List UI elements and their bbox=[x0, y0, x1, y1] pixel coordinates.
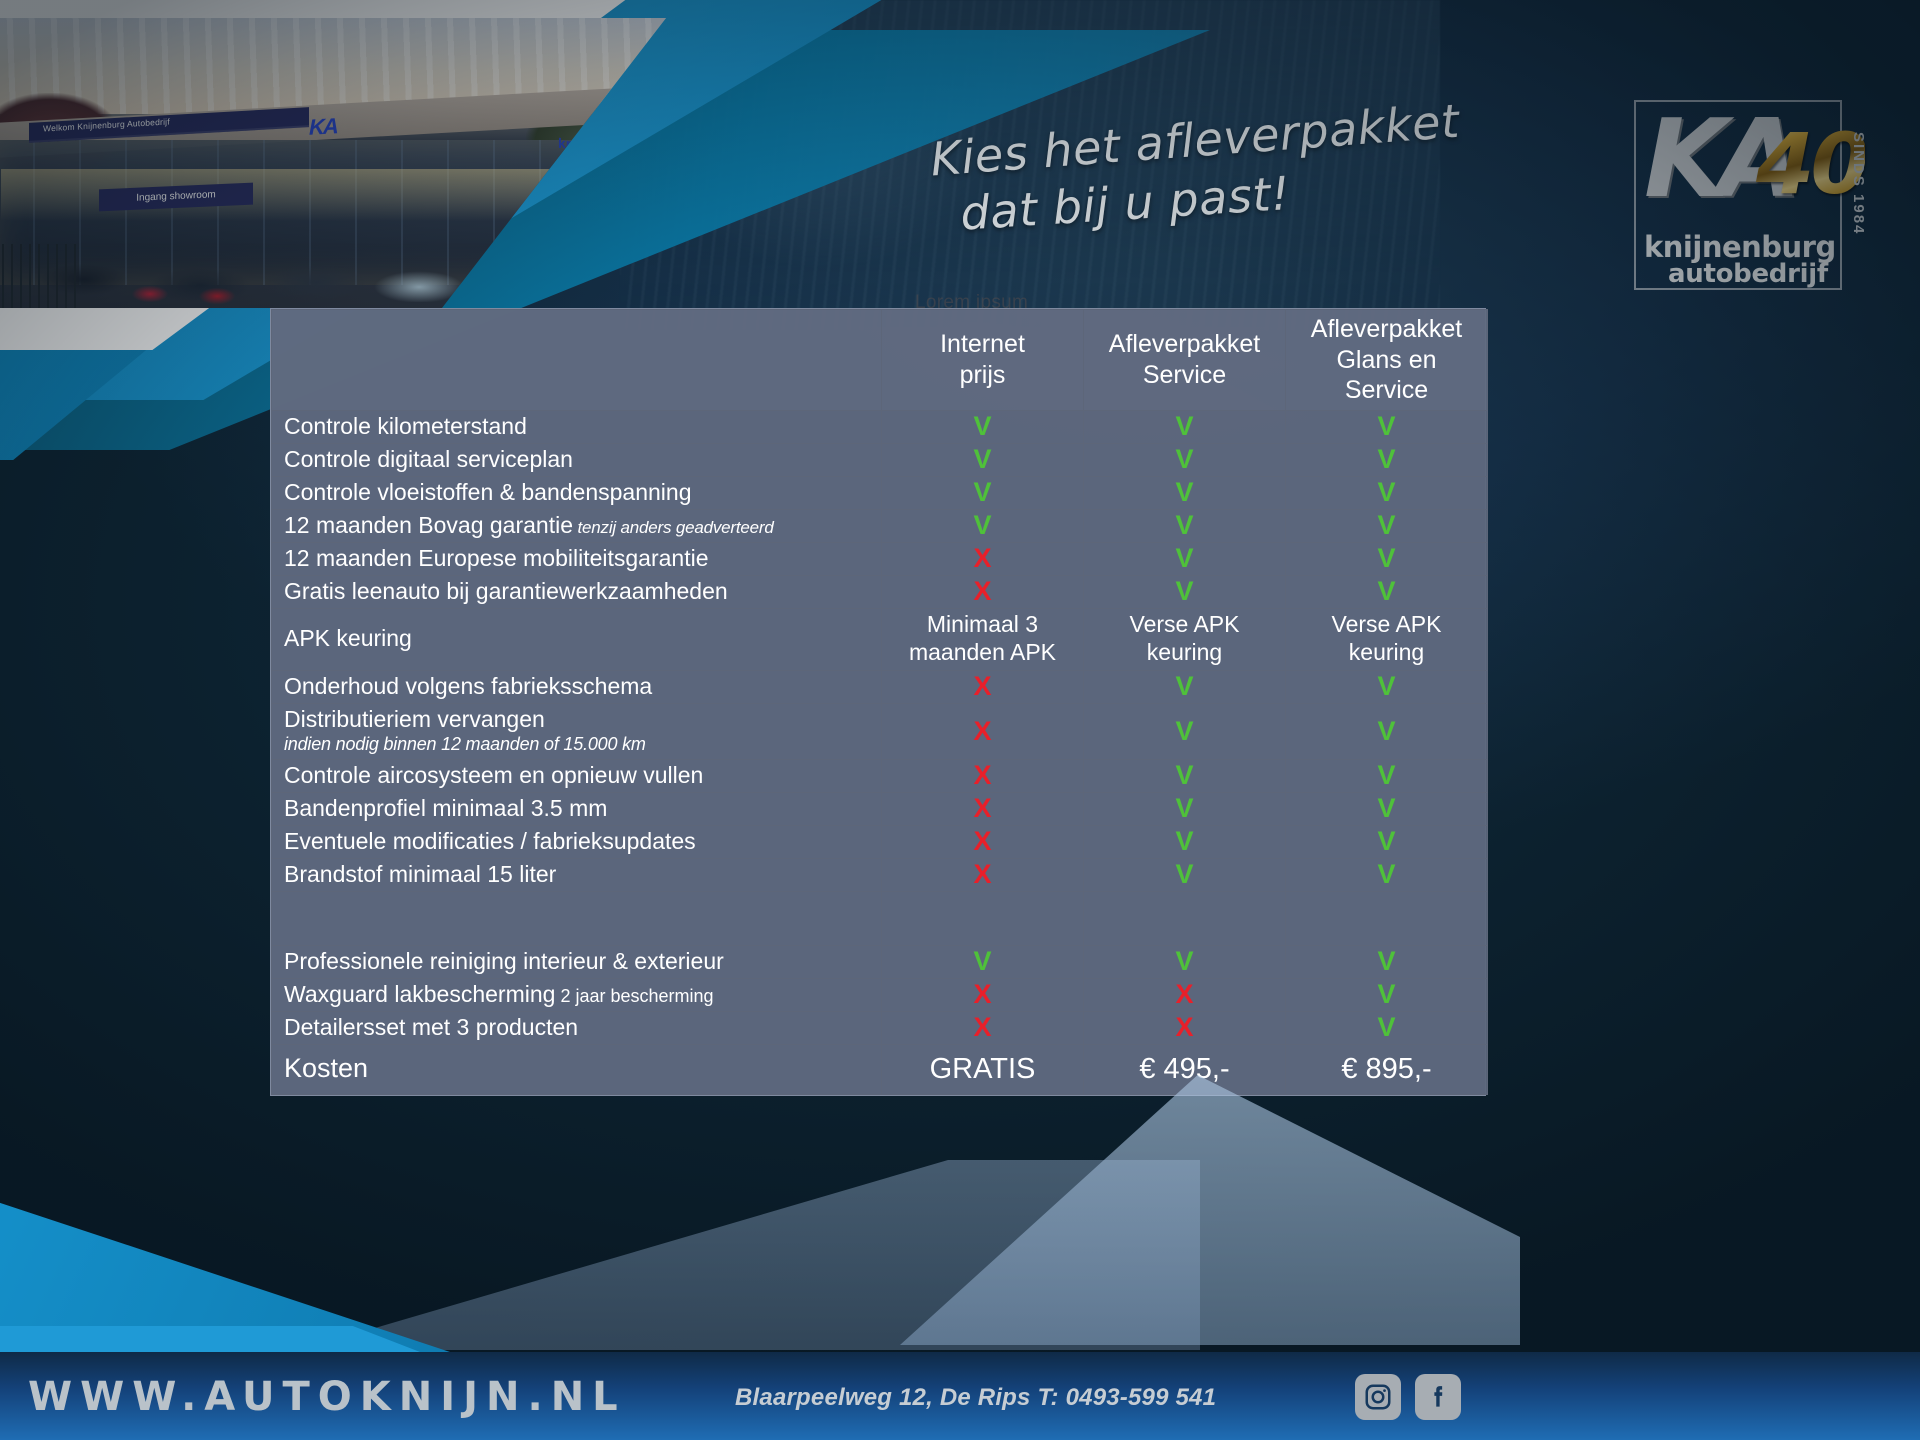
check-icon: V bbox=[1286, 1011, 1488, 1044]
check-icon: V bbox=[1286, 825, 1488, 858]
check-icon: V bbox=[1286, 858, 1488, 891]
check-icon: V bbox=[1084, 825, 1286, 858]
table-row: KostenGRATIS€ 495,-€ 895,- bbox=[272, 1044, 1488, 1094]
feature-label: Professionele reiniging interieur & exte… bbox=[284, 948, 724, 974]
table-row: Brandstof minimaal 15 literXVV bbox=[272, 858, 1488, 891]
cross-icon: X bbox=[882, 575, 1084, 608]
feature-subnote: indien nodig binnen 12 maanden of 15.000… bbox=[284, 734, 881, 755]
check-icon: V bbox=[1084, 443, 1286, 476]
check-icon: V bbox=[1286, 410, 1488, 443]
cross-icon: X bbox=[882, 792, 1084, 825]
check-icon: V bbox=[1286, 978, 1488, 1011]
cross-icon: X bbox=[882, 858, 1084, 891]
check-icon: V bbox=[1084, 476, 1286, 509]
feature-label: 12 maanden Europese mobiliteitsgarantie bbox=[284, 545, 709, 571]
col3-line2: Glans en Service bbox=[1292, 345, 1481, 406]
check-icon: V bbox=[882, 945, 1084, 978]
cross-icon: X bbox=[882, 825, 1084, 858]
check-icon: V bbox=[1084, 509, 1286, 542]
feature-label: Controle vloeistoffen & bandenspanning bbox=[284, 479, 692, 505]
feature-cell: Bandenprofiel minimaal 3.5 mm bbox=[272, 792, 882, 825]
value-cell bbox=[1084, 891, 1286, 945]
table-row: Waxguard lakbescherming 2 jaar beschermi… bbox=[272, 978, 1488, 1011]
table-row: Controle vloeistoffen & bandenspanningVV… bbox=[272, 476, 1488, 509]
check-icon: V bbox=[1084, 703, 1286, 759]
feature-cell: Kosten bbox=[272, 1044, 882, 1094]
col2-line2: Service bbox=[1090, 360, 1279, 391]
table-row: Bandenprofiel minimaal 3.5 mmXVV bbox=[272, 792, 1488, 825]
footer-accent-tab bbox=[0, 1326, 420, 1352]
table-header-row: Internet prijs Afleverpakket Service Afl… bbox=[272, 310, 1488, 411]
column-header-afleverpakket-service: Afleverpakket Service bbox=[1084, 310, 1286, 411]
table-row bbox=[272, 891, 1488, 945]
check-icon: V bbox=[1286, 443, 1488, 476]
table-row: Onderhoud volgens fabrieksschemaXVV bbox=[272, 670, 1488, 703]
feature-label: 12 maanden Bovag garantie bbox=[284, 512, 573, 538]
feature-cell: Waxguard lakbescherming 2 jaar beschermi… bbox=[272, 978, 882, 1011]
table-row: APK keuringMinimaal 3 maanden APKVerse A… bbox=[272, 608, 1488, 670]
check-icon: V bbox=[1084, 575, 1286, 608]
table-row: Professionele reiniging interieur & exte… bbox=[272, 945, 1488, 978]
feature-label: Brandstof minimaal 15 liter bbox=[284, 861, 556, 887]
table-row: Controle kilometerstandVVV bbox=[272, 410, 1488, 443]
check-icon: V bbox=[1084, 858, 1286, 891]
check-icon: V bbox=[882, 410, 1084, 443]
table-row: Controle digitaal serviceplanVVV bbox=[272, 443, 1488, 476]
poster-root: Welkom Knijnenburg Autobedrijf KA knijne… bbox=[0, 0, 1920, 1440]
feature-label: Controle kilometerstand bbox=[284, 413, 527, 439]
cross-icon: X bbox=[1084, 1011, 1286, 1044]
check-icon: V bbox=[1286, 945, 1488, 978]
column-header-internet-prijs: Internet prijs bbox=[882, 310, 1084, 411]
check-icon: V bbox=[882, 443, 1084, 476]
value-cell bbox=[882, 891, 1084, 945]
feature-cell: Eventuele modificaties / fabrieksupdates bbox=[272, 825, 882, 858]
feature-cell: Controle digitaal serviceplan bbox=[272, 443, 882, 476]
col1-line2: prijs bbox=[888, 360, 1077, 391]
col1-line1: Internet bbox=[888, 329, 1077, 360]
table-row: Distributieriem vervangenindien nodig bi… bbox=[272, 703, 1488, 759]
feature-cell: Controle kilometerstand bbox=[272, 410, 882, 443]
feature-cell: Gratis leenauto bij garantiewerkzaamhede… bbox=[272, 575, 882, 608]
check-icon: V bbox=[1286, 476, 1488, 509]
feature-cell bbox=[272, 891, 882, 945]
cross-icon: X bbox=[882, 978, 1084, 1011]
check-icon: V bbox=[1286, 509, 1488, 542]
cross-icon: X bbox=[1084, 978, 1286, 1011]
cross-icon: X bbox=[882, 542, 1084, 575]
feature-cell: Professionele reiniging interieur & exte… bbox=[272, 945, 882, 978]
feature-label: Controle aircosysteem en opnieuw vullen bbox=[284, 762, 703, 788]
comparison-table: Internet prijs Afleverpakket Service Afl… bbox=[271, 309, 1488, 1095]
feature-note: 2 jaar bescherming bbox=[555, 986, 713, 1006]
feature-cell: Onderhoud volgens fabrieksschema bbox=[272, 670, 882, 703]
price-cell: GRATIS bbox=[882, 1044, 1084, 1094]
footer-website[interactable]: WWW.AUTOKNIJN.NL bbox=[28, 1374, 626, 1420]
feature-label: Kosten bbox=[284, 1053, 368, 1083]
feature-cell: Controle vloeistoffen & bandenspanning bbox=[272, 476, 882, 509]
feature-label: Gratis leenauto bij garantiewerkzaamhede… bbox=[284, 578, 728, 604]
table-row: Gratis leenauto bij garantiewerkzaamhede… bbox=[272, 575, 1488, 608]
column-header-afleverpakket-glans-service: Afleverpakket Glans en Service bbox=[1286, 310, 1488, 411]
feature-label: Distributieriem vervangen bbox=[284, 706, 545, 732]
feature-note: tenzij anders geadverteerd bbox=[573, 518, 774, 537]
value-cell bbox=[1286, 891, 1488, 945]
feature-cell: 12 maanden Europese mobiliteitsgarantie bbox=[272, 542, 882, 575]
table-row: Controle aircosysteem en opnieuw vullenX… bbox=[272, 759, 1488, 792]
check-icon: V bbox=[1286, 575, 1488, 608]
cross-icon: X bbox=[882, 759, 1084, 792]
feature-cell: Distributieriem vervangenindien nodig bi… bbox=[272, 703, 882, 759]
feature-cell: 12 maanden Bovag garantie tenzij anders … bbox=[272, 509, 882, 542]
price-cell: € 495,- bbox=[1084, 1044, 1286, 1094]
feature-label: Detailersset met 3 producten bbox=[284, 1014, 578, 1040]
col2-line1: Afleverpakket bbox=[1090, 329, 1279, 360]
column-header-feature bbox=[272, 310, 882, 411]
feature-label: APK keuring bbox=[284, 625, 412, 651]
check-icon: V bbox=[1286, 792, 1488, 825]
check-icon: V bbox=[882, 476, 1084, 509]
value-cell: Verse APK keuring bbox=[1286, 608, 1488, 670]
feature-label: Controle digitaal serviceplan bbox=[284, 446, 573, 472]
footer-social-icons bbox=[1355, 1374, 1461, 1420]
feature-label: Onderhoud volgens fabrieksschema bbox=[284, 673, 652, 699]
feature-cell: Controle aircosysteem en opnieuw vullen bbox=[272, 759, 882, 792]
check-icon: V bbox=[1084, 542, 1286, 575]
footer-address-phone: Blaarpeelweg 12, De Rips T: 0493-599 541 bbox=[735, 1384, 1216, 1412]
table-row: Eventuele modificaties / fabrieksupdates… bbox=[272, 825, 1488, 858]
check-icon: V bbox=[1286, 703, 1488, 759]
table-body: Controle kilometerstandVVVControle digit… bbox=[272, 410, 1488, 1094]
check-icon: V bbox=[882, 509, 1084, 542]
instagram-icon[interactable] bbox=[1355, 1374, 1401, 1420]
feature-label: Waxguard lakbescherming bbox=[284, 981, 555, 1007]
table-row: 12 maanden Europese mobiliteitsgarantieX… bbox=[272, 542, 1488, 575]
cross-icon: X bbox=[882, 703, 1084, 759]
table-row: Detailersset met 3 productenXXV bbox=[272, 1011, 1488, 1044]
check-icon: V bbox=[1084, 670, 1286, 703]
cross-icon: X bbox=[882, 670, 1084, 703]
check-icon: V bbox=[1084, 792, 1286, 825]
feature-cell: APK keuring bbox=[272, 608, 882, 670]
feature-label: Eventuele modificaties / fabrieksupdates bbox=[284, 828, 696, 854]
feature-label: Bandenprofiel minimaal 3.5 mm bbox=[284, 795, 607, 821]
value-cell: Verse APK keuring bbox=[1084, 608, 1286, 670]
table-row: 12 maanden Bovag garantie tenzij anders … bbox=[272, 509, 1488, 542]
check-icon: V bbox=[1286, 542, 1488, 575]
price-cell: € 895,- bbox=[1286, 1044, 1488, 1094]
cross-icon: X bbox=[882, 1011, 1084, 1044]
check-icon: V bbox=[1084, 945, 1286, 978]
check-icon: V bbox=[1286, 670, 1488, 703]
col3-line1: Afleverpakket bbox=[1292, 314, 1481, 345]
check-icon: V bbox=[1084, 759, 1286, 792]
package-comparison-table: Internet prijs Afleverpakket Service Afl… bbox=[270, 308, 1486, 1096]
check-icon: V bbox=[1286, 759, 1488, 792]
feature-cell: Detailersset met 3 producten bbox=[272, 1011, 882, 1044]
feature-cell: Brandstof minimaal 15 liter bbox=[272, 858, 882, 891]
footer-bar: WWW.AUTOKNIJN.NL Blaarpeelweg 12, De Rip… bbox=[0, 1352, 1920, 1440]
facebook-icon[interactable] bbox=[1415, 1374, 1461, 1420]
check-icon: V bbox=[1084, 410, 1286, 443]
table-head: Internet prijs Afleverpakket Service Afl… bbox=[272, 310, 1488, 411]
value-cell: Minimaal 3 maanden APK bbox=[882, 608, 1084, 670]
